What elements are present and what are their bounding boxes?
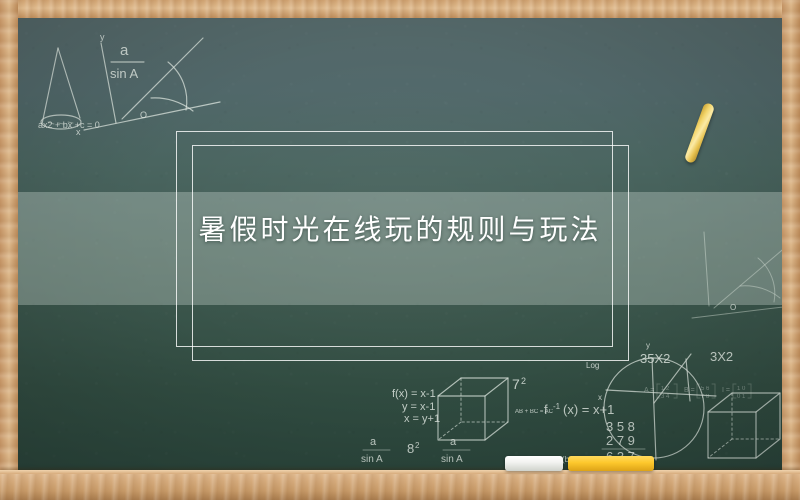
svg-text:f: f (544, 402, 548, 417)
multiplication-3x2: 3X2 (710, 349, 733, 364)
ledge-lip (0, 470, 800, 474)
svg-text:1 0: 1 0 (737, 386, 746, 392)
svg-text:2: 2 (521, 376, 526, 386)
svg-text:2: 2 (415, 441, 420, 450)
log-label-right: Log (586, 361, 599, 370)
svg-text:sin A: sin A (441, 454, 463, 465)
svg-text:sin A: sin A (361, 454, 383, 465)
svg-text:-1: -1 (553, 402, 561, 411)
frame-left-edge (0, 0, 18, 500)
svg-text:A =: A = (644, 387, 654, 394)
svg-text:7 8: 7 8 (701, 394, 710, 400)
svg-text:0 1: 0 1 (737, 394, 746, 400)
chalk-ledge (0, 470, 800, 500)
svg-text:O: O (140, 110, 147, 120)
svg-text:sin A: sin A (110, 66, 139, 81)
cube-drawing-center (438, 378, 508, 440)
vector-note: AB + BC = AC (515, 409, 554, 415)
svg-text:f(x) = x-1: f(x) = x-1 (392, 388, 436, 400)
eight-squared: 8 2 (407, 441, 420, 456)
svg-text:x = y+1: x = y+1 (404, 413, 440, 425)
quadratic-equation: ax2 + bx +c = 0 (38, 120, 100, 130)
fraction-a-over-sina-bottomleft: a sin A (361, 436, 390, 465)
cone-drawing (41, 48, 81, 129)
svg-text:x: x (598, 393, 602, 402)
svg-text:3 5 8: 3 5 8 (606, 419, 635, 434)
svg-text:O: O (730, 303, 736, 312)
seven-squared: 7 2 (512, 376, 526, 392)
svg-text:a: a (370, 436, 377, 448)
svg-text:3 4: 3 4 (661, 394, 670, 400)
svg-text:2 7 9: 2 7 9 (606, 433, 635, 448)
svg-text:a: a (120, 42, 129, 59)
fraction-a-over-sina-undercube: a sin A (441, 436, 470, 465)
svg-text:I =: I = (722, 387, 730, 394)
svg-text:a: a (450, 436, 457, 448)
yellow-chalk-stick-icon (684, 102, 716, 164)
cube-drawing-right (708, 393, 780, 458)
svg-text:y: y (646, 341, 650, 350)
multiplication-35x2: 35X2 (640, 351, 670, 366)
svg-text:B =: B = (684, 387, 695, 394)
page-title: 暑假时光在线玩的规则与玩法 (198, 212, 601, 248)
svg-text:1 2: 1 2 (661, 386, 670, 392)
chalkboard-banner: a sin A ax2 + bx +c = 0 y x O (0, 0, 800, 500)
svg-text:8: 8 (407, 441, 414, 456)
svg-text:x: x (76, 127, 81, 137)
svg-text:(x) = x+1: (x) = x+1 (563, 402, 614, 417)
inverse-function-note: f -1 (x) = x+1 (544, 402, 614, 417)
svg-text:7: 7 (512, 376, 520, 392)
fraction-a-over-sina-topleft: a sin A (110, 42, 144, 81)
decorative-rect-inner (192, 145, 629, 361)
frame-top-edge (0, 0, 800, 18)
function-equations-bottom: f(x) = x-1 y = x-1 x = y+1 (392, 388, 440, 425)
frame-right-edge (782, 0, 800, 500)
angle-construction-topleft: y x O (76, 32, 220, 137)
white-chalk-icon (505, 456, 563, 471)
svg-text:y = x-1: y = x-1 (402, 401, 435, 413)
yellow-chalk-icon (568, 456, 654, 471)
svg-text:y: y (100, 32, 105, 42)
matrix-row: A = 1 2 3 4 B = 5 6 7 8 I = 1 0 0 1 (644, 384, 751, 400)
page-title-wrap: 暑假时光在线玩的规则与玩法 (0, 212, 800, 248)
svg-text:5 6: 5 6 (701, 386, 710, 392)
